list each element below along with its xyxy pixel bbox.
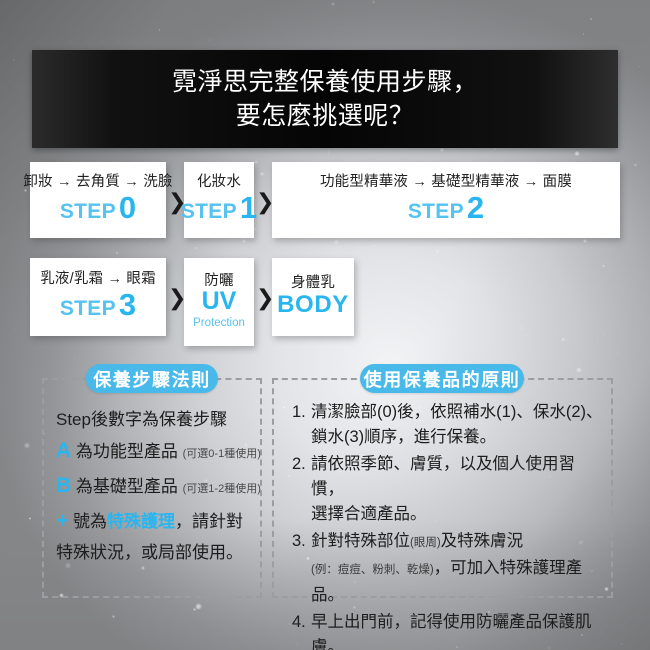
- step-card-step2[interactable]: 功能型精華液 → 基礎型精華液 → 面膜 STEP 2: [272, 162, 620, 238]
- step-card-step3[interactable]: 乳液/乳霜 → 眼霜 STEP 3: [30, 258, 166, 336]
- step-card-badge: STEP 3: [60, 287, 136, 323]
- body-label: BODY: [277, 291, 349, 319]
- principle-number: 2.: [292, 452, 311, 527]
- step-number: 2: [467, 190, 484, 226]
- step-card-badge: STEP 1: [181, 190, 257, 226]
- step-card-badge: STEP 0: [60, 190, 136, 226]
- principle-line-1: 清潔臉部(0)後，依照補水(1)、保水(2)、: [311, 400, 604, 425]
- principle-line-2: 選擇合適產品。: [311, 502, 604, 527]
- principle-text: 早上出門前，記得使用防曬產品保護肌膚。: [311, 610, 604, 650]
- rule-text-plus-b: ，請針對: [175, 512, 243, 531]
- step-card-top-text: 身體乳: [291, 275, 335, 292]
- rule-letter-b: B: [56, 474, 71, 497]
- principle-l1-rest: 及特殊膚況: [441, 532, 524, 550]
- step-card-top-text: 乳液/乳霜 → 眼霜: [40, 271, 156, 288]
- left-panel-line-4: + 號為特殊護理，請針對: [56, 505, 268, 537]
- principle-number: 4.: [292, 610, 311, 650]
- step-number: 1: [240, 190, 257, 226]
- rule-note-a: (可選0-1種使用): [183, 448, 261, 460]
- left-panel-line-1: Step後數字為保養步驟: [56, 404, 268, 435]
- principle-l1-main: 針對特殊部位: [311, 532, 410, 550]
- left-panel-line-2: A 為功能型產品 (可選0-1種使用): [56, 435, 268, 470]
- principle-text: 針對特殊部位(眼周)及特殊膚況 (例：痘痘、粉刺、乾燥)，可加入特殊護理產品。: [311, 529, 604, 608]
- infographic-root: 霓淨思完整保養使用步驟， 要怎麼挑選呢？ 卸妝 → 去角質 → 洗臉 STEP …: [0, 0, 650, 650]
- rule-text-b: 為基礎型產品: [76, 477, 178, 496]
- step-card-step0[interactable]: 卸妝 → 去角質 → 洗臉 STEP 0: [30, 162, 166, 238]
- rule-text-a: 為功能型產品: [76, 442, 178, 461]
- principle-l1-annotation: (眼周): [410, 537, 441, 549]
- title-line-1: 霓淨思完整保養使用步驟，: [172, 65, 478, 99]
- right-panel-content: 1. 清潔臉部(0)後，依照補水(1)、保水(2)、 鎖水(3)順序，進行保養。…: [292, 400, 604, 650]
- step-card-step1[interactable]: 化妝水 STEP 1: [184, 162, 254, 238]
- principle-line-1: 早上出門前，記得使用防曬產品保護肌膚。: [311, 610, 604, 650]
- step-card-body[interactable]: 身體乳 BODY: [272, 258, 354, 336]
- step-word: STEP: [60, 200, 116, 224]
- rule-text-plus-a: 號為: [73, 512, 107, 531]
- left-panel-pill: 保養步驟法則: [86, 364, 218, 393]
- step-word: STEP: [60, 297, 116, 321]
- uv-label: UV: [202, 289, 237, 314]
- step-card-top-text: 功能型精華液 → 基礎型精華液 → 面膜: [320, 174, 572, 191]
- uv-sublabel: Protection: [193, 315, 245, 331]
- title-line-2: 要怎麼挑選呢？: [236, 99, 415, 133]
- title-banner: 霓淨思完整保養使用步驟， 要怎麼挑選呢？: [32, 50, 618, 148]
- right-panel-pill: 使用保養品的原則: [360, 364, 524, 393]
- rule-letter-a: A: [56, 439, 71, 462]
- principle-number: 1.: [292, 400, 311, 450]
- step-number: 0: [119, 190, 136, 226]
- step-card-top-text: 化妝水: [197, 174, 241, 191]
- principle-line-1: 針對特殊部位(眼周)及特殊膚況: [311, 529, 604, 556]
- principle-example-annotation: (例：痘痘、粉刺、乾燥): [311, 564, 434, 576]
- step-number: 3: [119, 287, 136, 323]
- principle-text: 清潔臉部(0)後，依照補水(1)、保水(2)、 鎖水(3)順序，進行保養。: [311, 400, 604, 450]
- principle-item-2: 2. 請依照季節、膚質，以及個人使用習慣， 選擇合適產品。: [292, 452, 604, 527]
- step-word: STEP: [181, 200, 237, 224]
- principle-line-2: (例：痘痘、粉刺、乾燥)，可加入特殊護理產品。: [311, 556, 604, 608]
- principle-number: 3.: [292, 529, 311, 608]
- principle-text: 請依照季節、膚質，以及個人使用習慣， 選擇合適產品。: [311, 452, 604, 527]
- left-panel-content: Step後數字為保養步驟 A 為功能型產品 (可選0-1種使用) B 為基礎型產…: [56, 404, 268, 568]
- step-card-badge: STEP 2: [408, 190, 484, 226]
- left-panel-line-5: 特殊狀況，或局部使用。: [56, 537, 268, 568]
- step-card-uv[interactable]: 防曬 UV Protection: [184, 258, 254, 346]
- principle-item-4: 4. 早上出門前，記得使用防曬產品保護肌膚。: [292, 610, 604, 650]
- step-card-top-text: 卸妝 → 去角質 → 洗臉: [23, 174, 172, 191]
- rule-letter-plus: +: [56, 509, 68, 532]
- principle-item-1: 1. 清潔臉部(0)後，依照補水(1)、保水(2)、 鎖水(3)順序，進行保養。: [292, 400, 604, 450]
- principle-item-3: 3. 針對特殊部位(眼周)及特殊膚況 (例：痘痘、粉刺、乾燥)，可加入特殊護理產…: [292, 529, 604, 608]
- step-word: STEP: [408, 200, 464, 224]
- principle-line-1: 請依照季節、膚質，以及個人使用習慣，: [311, 452, 604, 502]
- rule-note-b: (可選1-2種使用): [183, 483, 261, 495]
- rule-highlight-special-care: 特殊護理: [107, 512, 175, 531]
- left-panel-line-3: B 為基礎型產品 (可選1-2種使用): [56, 470, 268, 505]
- principle-line-2: 鎖水(3)順序，進行保養。: [311, 425, 604, 450]
